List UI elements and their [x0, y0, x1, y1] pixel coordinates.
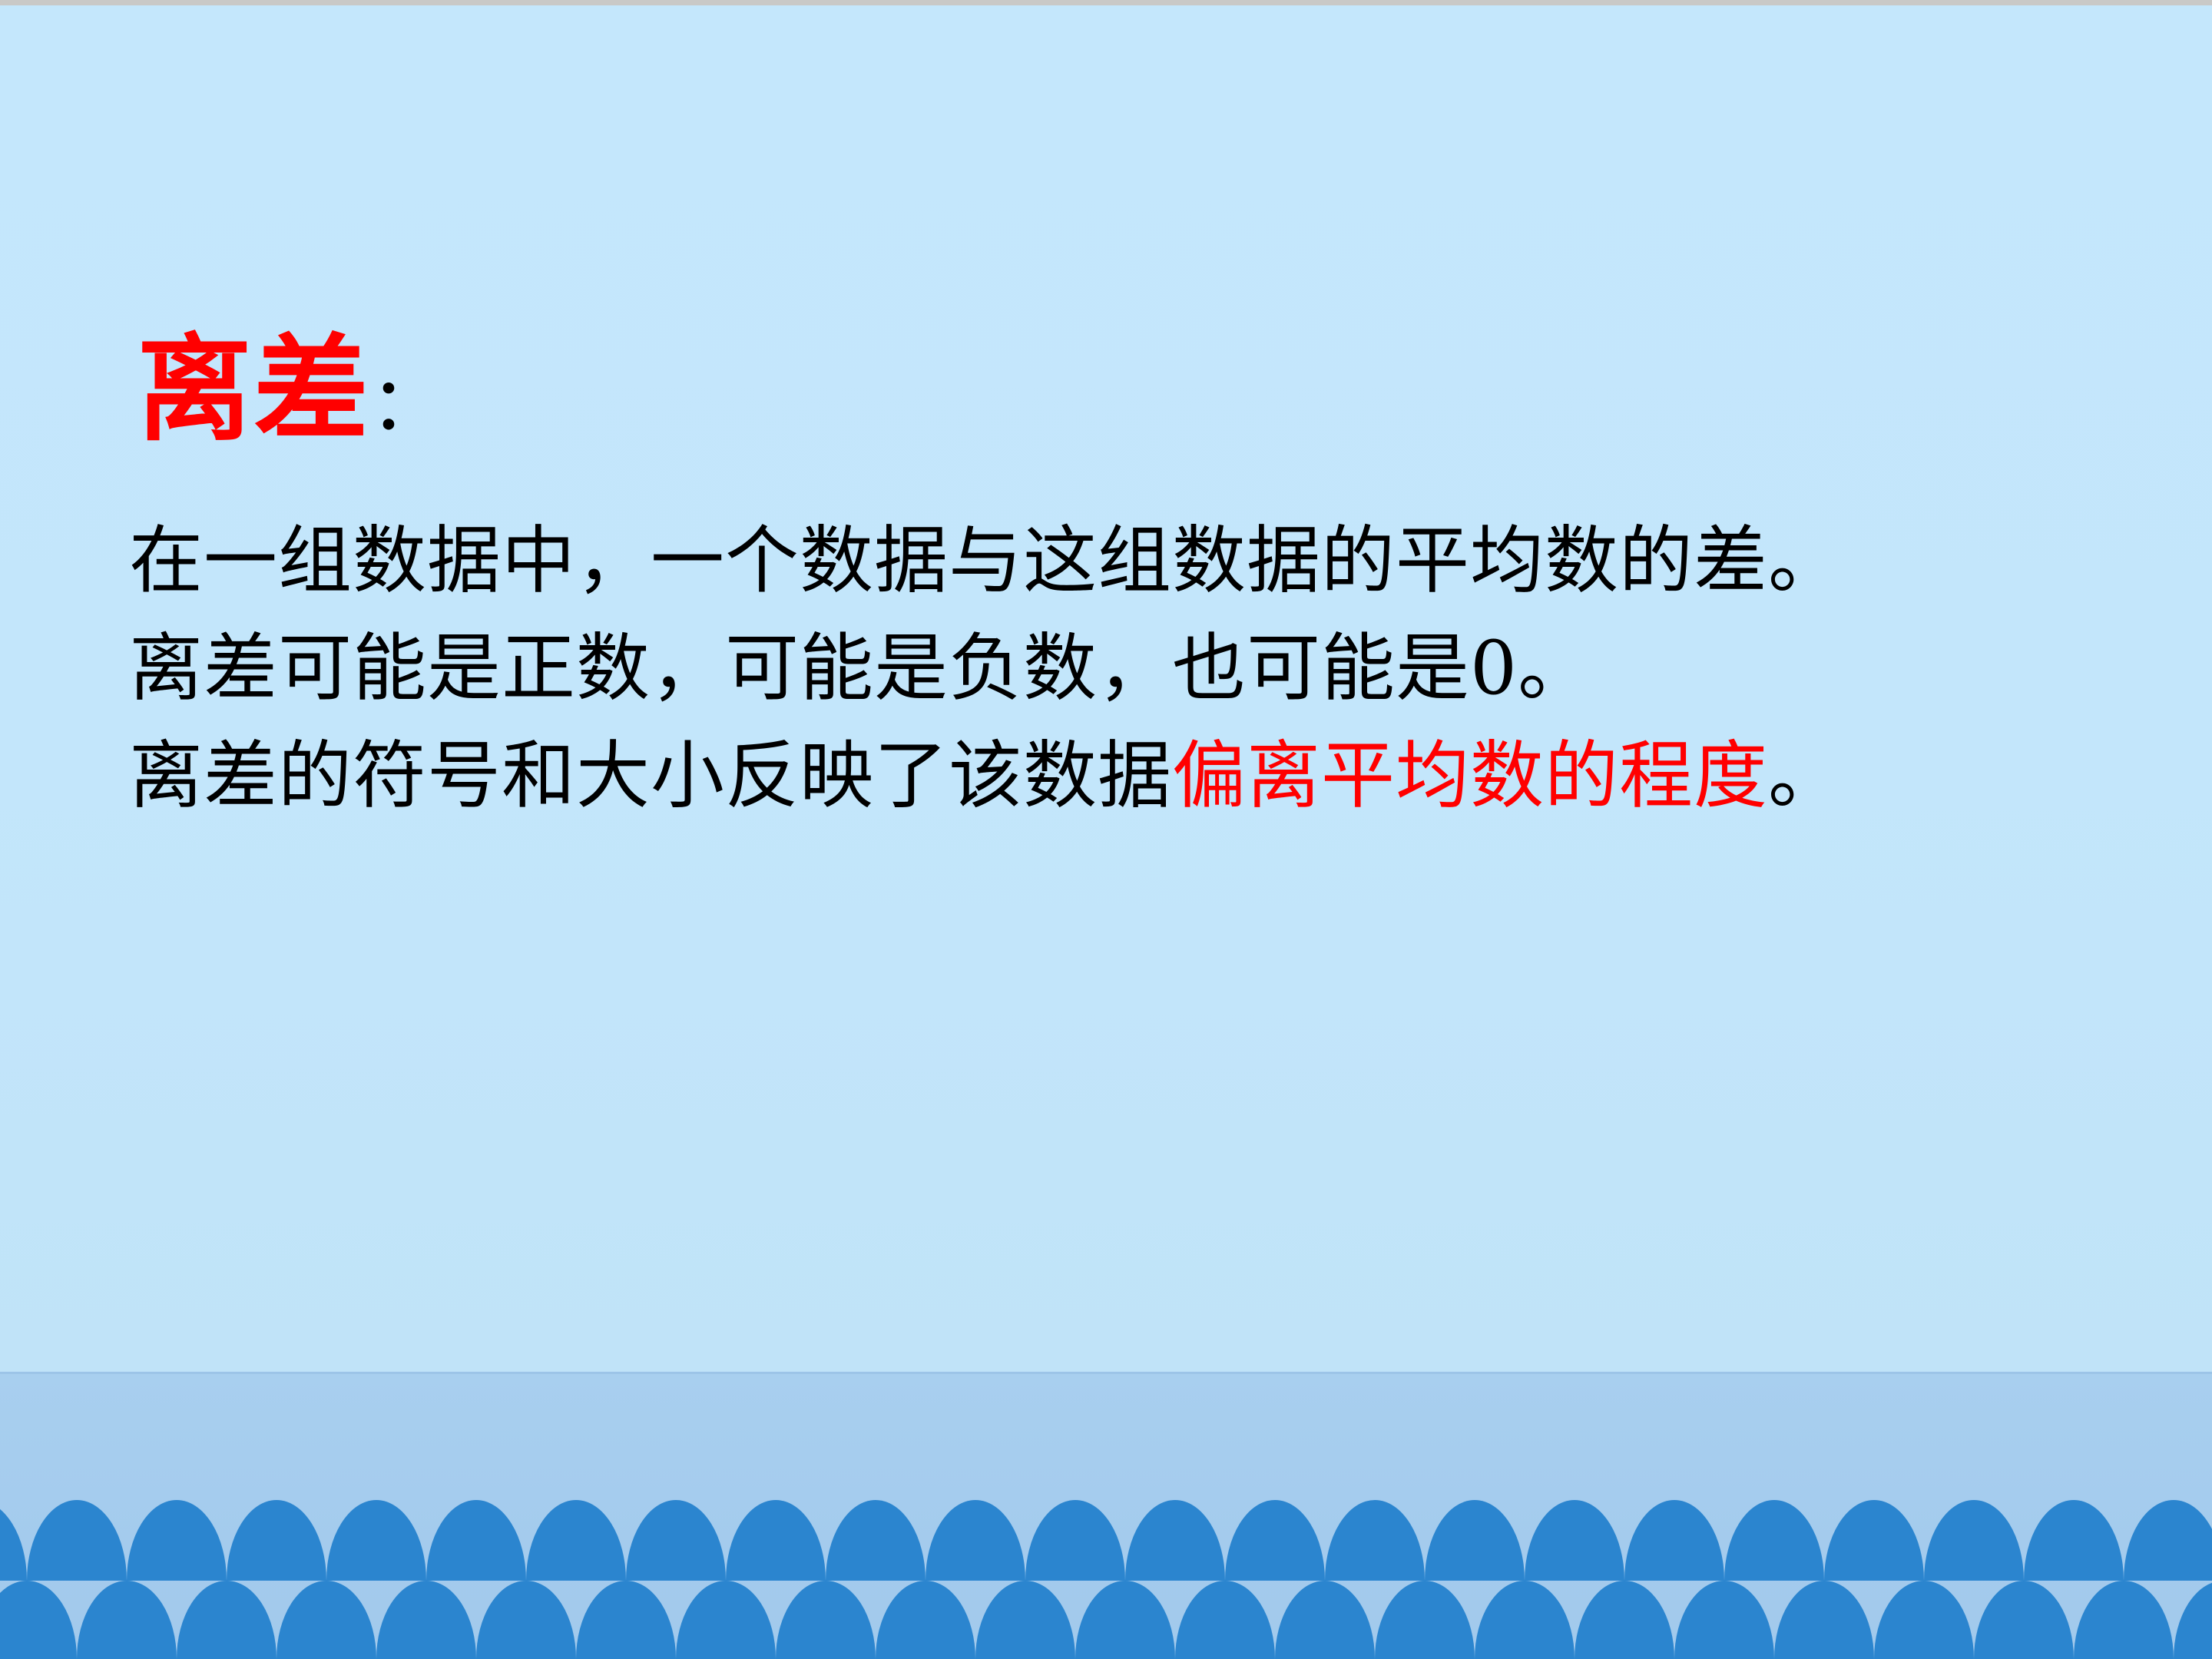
body-line-3: 离差的符号和大小反映了该数据偏离平均数的程度。	[129, 722, 2049, 829]
body-line-3-text-lead: 离差的符号和大小反映了该数据	[129, 733, 1172, 819]
body-line-2: 离差可能是正数，可能是负数，也可能是0。	[129, 614, 2049, 722]
body-text-block: 在一组数据中，一个数据与这组数据的平均数的差。 离差可能是正数，可能是负数，也可…	[129, 507, 2049, 829]
body-line-3-highlight: 偏离平均数的程度	[1172, 733, 1768, 819]
body-line-1-text: 在一组数据中，一个数据与这组数据的平均数的差。	[129, 518, 1843, 604]
title-colon: ：	[370, 361, 444, 447]
body-line-2-text: 离差可能是正数，可能是负数，也可能是0。	[129, 625, 1592, 711]
body-line-1: 在一组数据中，一个数据与这组数据的平均数的差。	[129, 507, 2049, 614]
slide-content: 离差： 在一组数据中，一个数据与这组数据的平均数的差。 离差可能是正数，可能是负…	[0, 0, 2212, 1659]
body-line-3-text-tail: 。	[1768, 733, 1843, 819]
slide-canvas: 离差： 在一组数据中，一个数据与这组数据的平均数的差。 离差可能是正数，可能是负…	[0, 0, 2212, 1659]
title-text: 离差	[137, 322, 370, 457]
page-title: 离差：	[137, 332, 444, 447]
top-edge-strip	[0, 0, 2212, 5]
